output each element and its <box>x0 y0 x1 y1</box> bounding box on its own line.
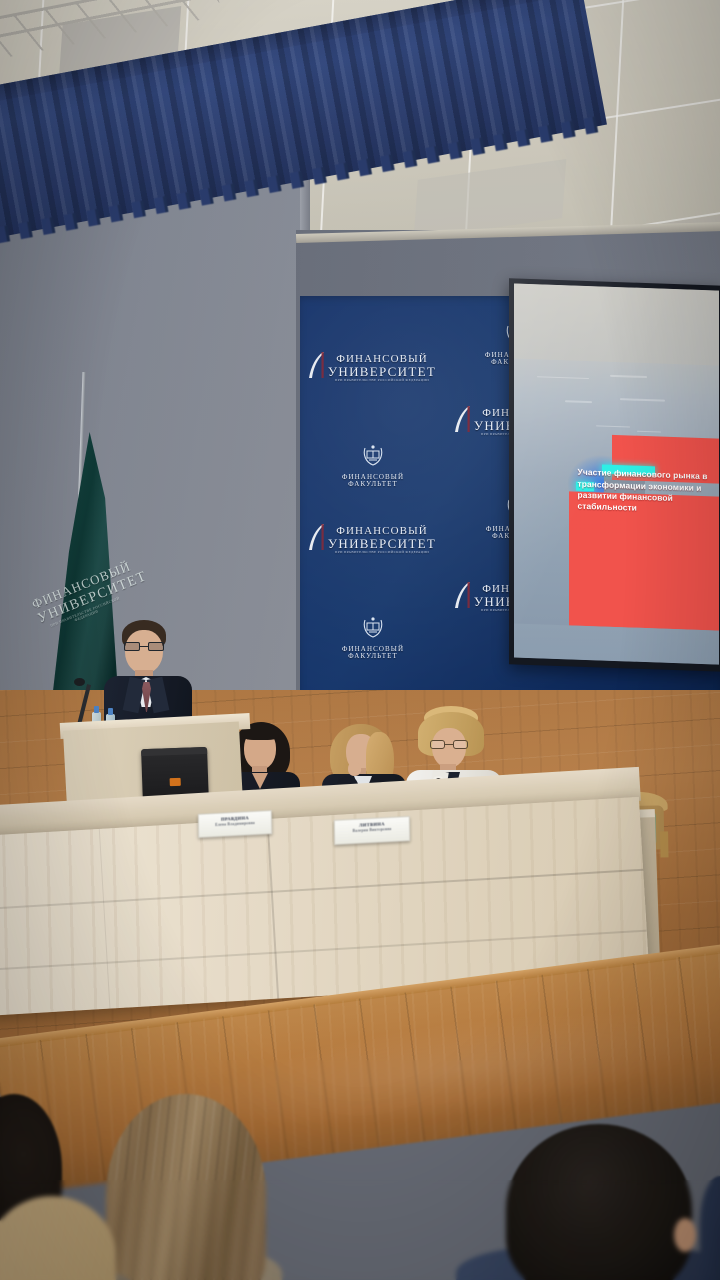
swoosh-logo-icon <box>453 582 471 609</box>
projection-screen: Участие финансового рынка в трансформаци… <box>509 278 720 671</box>
open-book-laurel-crest-icon <box>362 442 384 467</box>
swoosh-logo-icon <box>453 406 471 433</box>
nameplate: ЛИТВИНА Валерия Викторовна <box>334 816 410 845</box>
banner-university-logo: ФИНАНСОВЫЙ УНИВЕРСИТЕТ ПРИ ПРАВИТЕЛЬСТВЕ… <box>326 526 438 555</box>
audience-head-blonde-lower-left <box>0 1196 116 1280</box>
monitor-logo-icon <box>170 778 181 786</box>
banner-university-logo: ФИНАНСОВЫЙ УНИВЕРСИТЕТ ПРИ ПРАВИТЕЛЬСТВЕ… <box>326 354 438 383</box>
presentation-slide: Участие финансового рынка в трансформаци… <box>514 283 719 664</box>
audience-shoulder-right <box>700 1176 720 1280</box>
microphone-head-icon <box>74 678 85 686</box>
banner-faculty-logo: ФИНАНСОВЫЙ ФАКУЛЬТЕТ <box>334 614 412 661</box>
slide-bottom-band <box>514 624 719 665</box>
audience-head-long-hair <box>106 1094 266 1280</box>
eyeglasses-icon <box>124 642 164 651</box>
slide-top-band <box>514 283 719 365</box>
slide-title-text: Участие финансового рынка в трансформаци… <box>578 467 713 517</box>
open-book-laurel-crest-icon <box>362 614 384 639</box>
swoosh-logo-icon <box>307 524 325 551</box>
banner-faculty-logo: ФИНАНСОВЫЙ ФАКУЛЬТЕТ <box>334 442 412 489</box>
nameplate: ПРАВДИНА Елена Владимировна <box>198 810 272 838</box>
swoosh-logo-icon <box>307 352 325 379</box>
eyeglasses-icon <box>430 740 468 749</box>
audience-man-with-lanyard <box>506 1124 692 1280</box>
conference-photo-scene: ФИНАНСОВЫЙ УНИВЕРСИТЕТ ПРИ ПРАВИТЕЛЬСТВЕ… <box>0 0 720 1280</box>
